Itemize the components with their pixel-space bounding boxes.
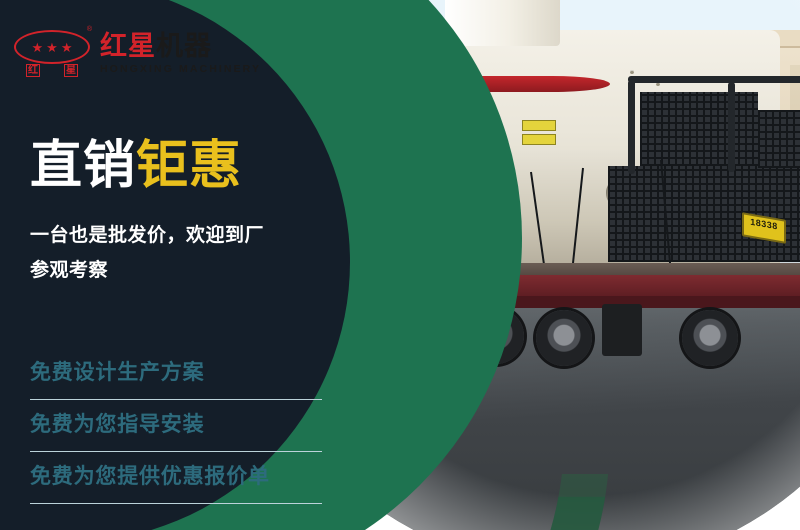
headline-gold-part: 钜惠 bbox=[136, 137, 242, 195]
crusher-feed-hopper bbox=[445, 0, 560, 46]
platform-handrail bbox=[628, 76, 800, 83]
trailer-wheel bbox=[682, 310, 738, 366]
logo-oval-icon: ★ ★ ★ bbox=[14, 30, 90, 64]
page-title: 直销钜惠 bbox=[30, 138, 242, 194]
steel-grating-panel bbox=[640, 92, 758, 166]
steel-grating-panel bbox=[608, 166, 800, 262]
platform-handrail bbox=[628, 80, 635, 174]
promo-banner: 18338 ★ ★ ★ ® 红 星 红星机器 HONGXING MACHINER… bbox=[0, 0, 800, 530]
list-item: 免费设计生产方案 bbox=[30, 348, 322, 400]
registered-trademark-icon: ® bbox=[87, 26, 92, 33]
list-item: 免费为您指导安装 bbox=[30, 400, 322, 452]
subtitle-line-1: 一台也是批发价，欢迎到厂 bbox=[30, 218, 330, 253]
trailer-wheel bbox=[536, 310, 592, 366]
machine-bolt bbox=[630, 70, 634, 74]
subtitle-line-2: 参观考察 bbox=[30, 253, 330, 288]
platform-handrail bbox=[728, 82, 735, 172]
brand-name-en: HONGXING MACHINERY bbox=[100, 62, 261, 76]
brand-name-cn: 红星机器 bbox=[100, 31, 261, 61]
logo-badges: 红 星 bbox=[14, 64, 90, 77]
hongxing-oval-stars-logo-icon: ★ ★ ★ ® 红 星 bbox=[14, 26, 90, 80]
logo-badge-hong: 红 bbox=[26, 64, 40, 77]
warning-label bbox=[522, 134, 556, 145]
logo-badge-xing: 星 bbox=[64, 64, 78, 77]
headline-white-part: 直销 bbox=[30, 137, 136, 195]
star-icon: ★ bbox=[46, 41, 58, 54]
warning-label bbox=[522, 120, 556, 131]
trailer-mudflap bbox=[602, 304, 642, 356]
benefit-list: 免费设计生产方案 免费为您指导安装 免费为您提供优惠报价单 bbox=[30, 348, 322, 504]
list-item: 免费为您提供优惠报价单 bbox=[30, 452, 322, 504]
steel-grating-panel bbox=[758, 110, 800, 168]
star-icon: ★ bbox=[61, 41, 73, 54]
brand-name-cn-dark: 机器 bbox=[156, 31, 212, 61]
star-icon: ★ bbox=[32, 41, 44, 54]
page-subtitle: 一台也是批发价，欢迎到厂 参观考察 bbox=[30, 218, 330, 288]
brand-logo[interactable]: ★ ★ ★ ® 红 星 红星机器 HONGXING MACHINERY bbox=[14, 26, 261, 80]
brand-name-cn-red: 红星 bbox=[100, 31, 156, 61]
brand-name-block: 红星机器 HONGXING MACHINERY bbox=[100, 31, 261, 76]
